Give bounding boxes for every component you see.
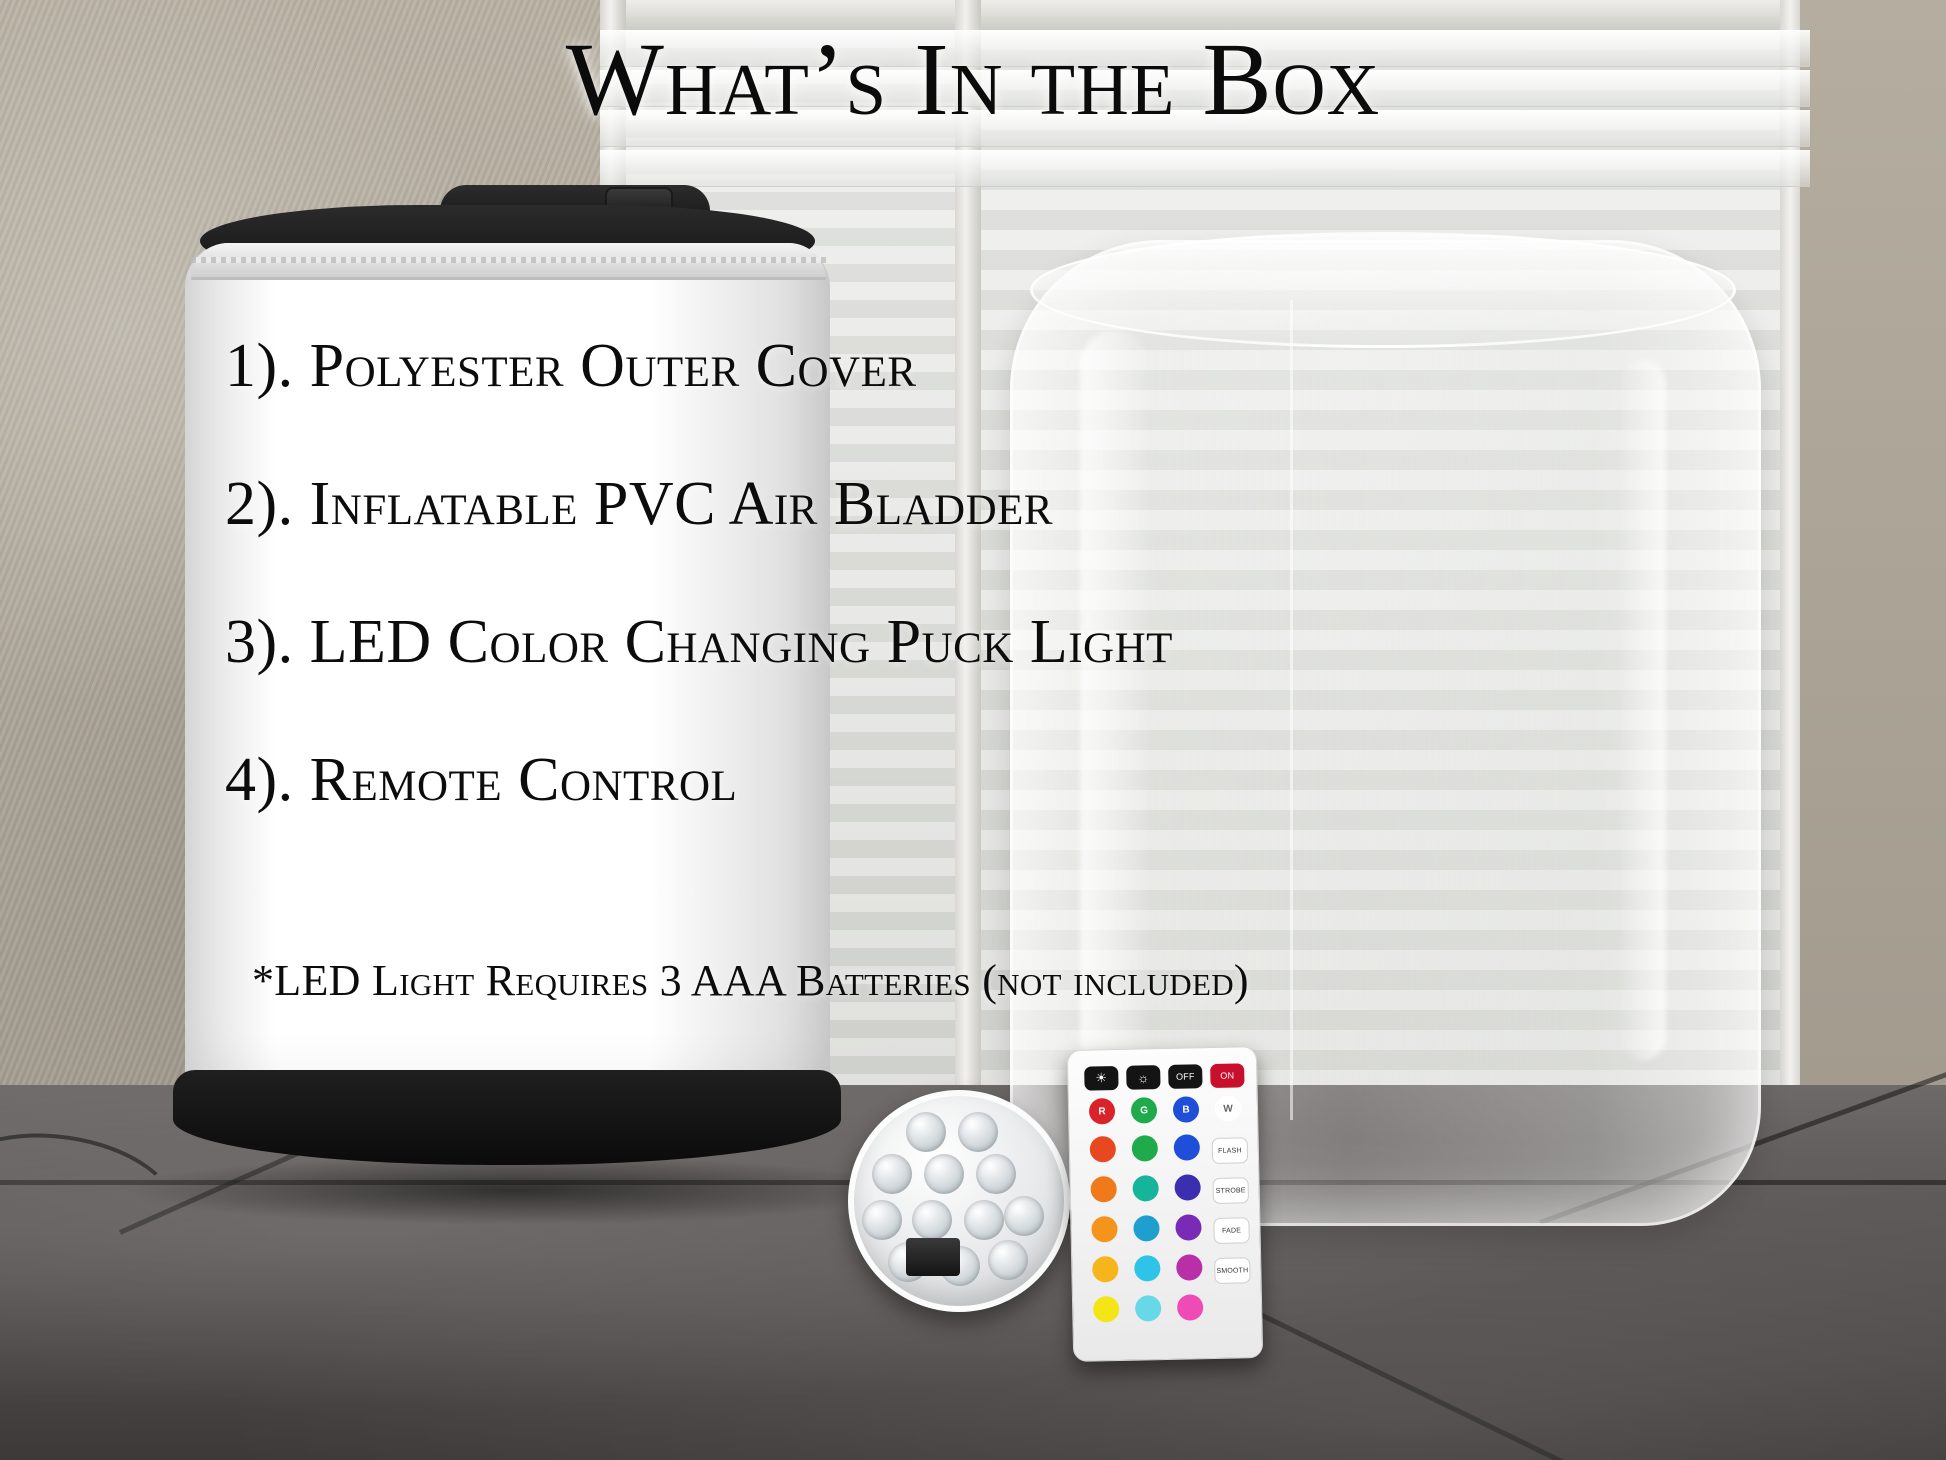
bladder-top-rim — [1030, 232, 1736, 348]
product-photo-scene: ☀☼OFFONRGBWFLASHSTROBEFADESMOOTH What’s … — [0, 0, 1946, 1460]
remote-mode-flash[interactable]: FLASH — [1212, 1137, 1249, 1164]
remote-color-swatch[interactable] — [1090, 1176, 1117, 1203]
remote-color-swatch[interactable] — [1177, 1294, 1204, 1321]
remote-color-swatch[interactable] — [1135, 1295, 1162, 1322]
remote-color-swatch[interactable] — [1091, 1216, 1118, 1243]
remote-brightness-up-icon[interactable]: ☀ — [1084, 1066, 1118, 1091]
remote-color-swatch[interactable] — [1093, 1296, 1120, 1323]
led-diode — [924, 1154, 964, 1194]
remote-power-on-icon[interactable]: ON — [1210, 1063, 1244, 1088]
led-diode — [912, 1200, 952, 1240]
led-diode — [1004, 1196, 1044, 1236]
led-diode — [988, 1240, 1028, 1280]
led-diode — [906, 1112, 946, 1152]
remote-color-swatch[interactable] — [1090, 1136, 1117, 1163]
remote-color-swatch[interactable] — [1132, 1135, 1159, 1162]
remote-mode-smooth[interactable]: SMOOTH — [1214, 1257, 1251, 1284]
page-title: What’s In the Box — [0, 28, 1946, 132]
list-item: 4). Remote Control — [225, 749, 1925, 811]
puck-battery-compartment — [906, 1238, 960, 1276]
remote-channel-r[interactable]: R — [1089, 1098, 1116, 1125]
remote-color-swatch[interactable] — [1133, 1215, 1160, 1242]
remote-mode-strobe[interactable]: STROBE — [1212, 1177, 1249, 1204]
led-diode — [862, 1200, 902, 1240]
led-puck-light — [848, 1090, 1070, 1312]
remote-color-swatch[interactable] — [1174, 1174, 1201, 1201]
remote-color-swatch[interactable] — [1132, 1175, 1159, 1202]
remote-color-swatch[interactable] — [1176, 1254, 1203, 1281]
list-item: 1). Polyester Outer Cover — [225, 335, 1925, 397]
lantern-zipper — [191, 243, 826, 280]
battery-footnote: *LED Light Requires 3 AAA Batteries (not… — [252, 955, 1249, 1006]
list-item: 2). Inflatable PVC Air Bladder — [225, 473, 1925, 535]
remote-color-swatch[interactable] — [1134, 1255, 1161, 1282]
remote-mode-fade[interactable]: FADE — [1213, 1217, 1250, 1244]
remote-channel-b[interactable]: B — [1173, 1096, 1200, 1123]
remote-brightness-down-icon[interactable]: ☼ — [1126, 1065, 1160, 1090]
list-item: 3). LED Color Changing Puck Light — [225, 611, 1925, 673]
remote-channel-w[interactable]: W — [1215, 1095, 1242, 1122]
led-diode — [958, 1112, 998, 1152]
led-diode — [872, 1154, 912, 1194]
remote-channel-g[interactable]: G — [1131, 1097, 1158, 1124]
window-blind-slat — [600, 150, 1810, 187]
led-diode — [976, 1154, 1016, 1194]
lantern-base-trim — [173, 1070, 841, 1165]
remote-control[interactable]: ☀☼OFFONRGBWFLASHSTROBEFADESMOOTH — [1067, 1046, 1263, 1362]
remote-color-swatch[interactable] — [1175, 1214, 1202, 1241]
remote-color-swatch[interactable] — [1174, 1134, 1201, 1161]
led-diode — [964, 1200, 1004, 1240]
remote-color-swatch[interactable] — [1092, 1256, 1119, 1283]
remote-power-off-icon[interactable]: OFF — [1168, 1064, 1202, 1089]
whats-in-the-box-list: 1). Polyester Outer Cover 2). Inflatable… — [225, 335, 1925, 887]
